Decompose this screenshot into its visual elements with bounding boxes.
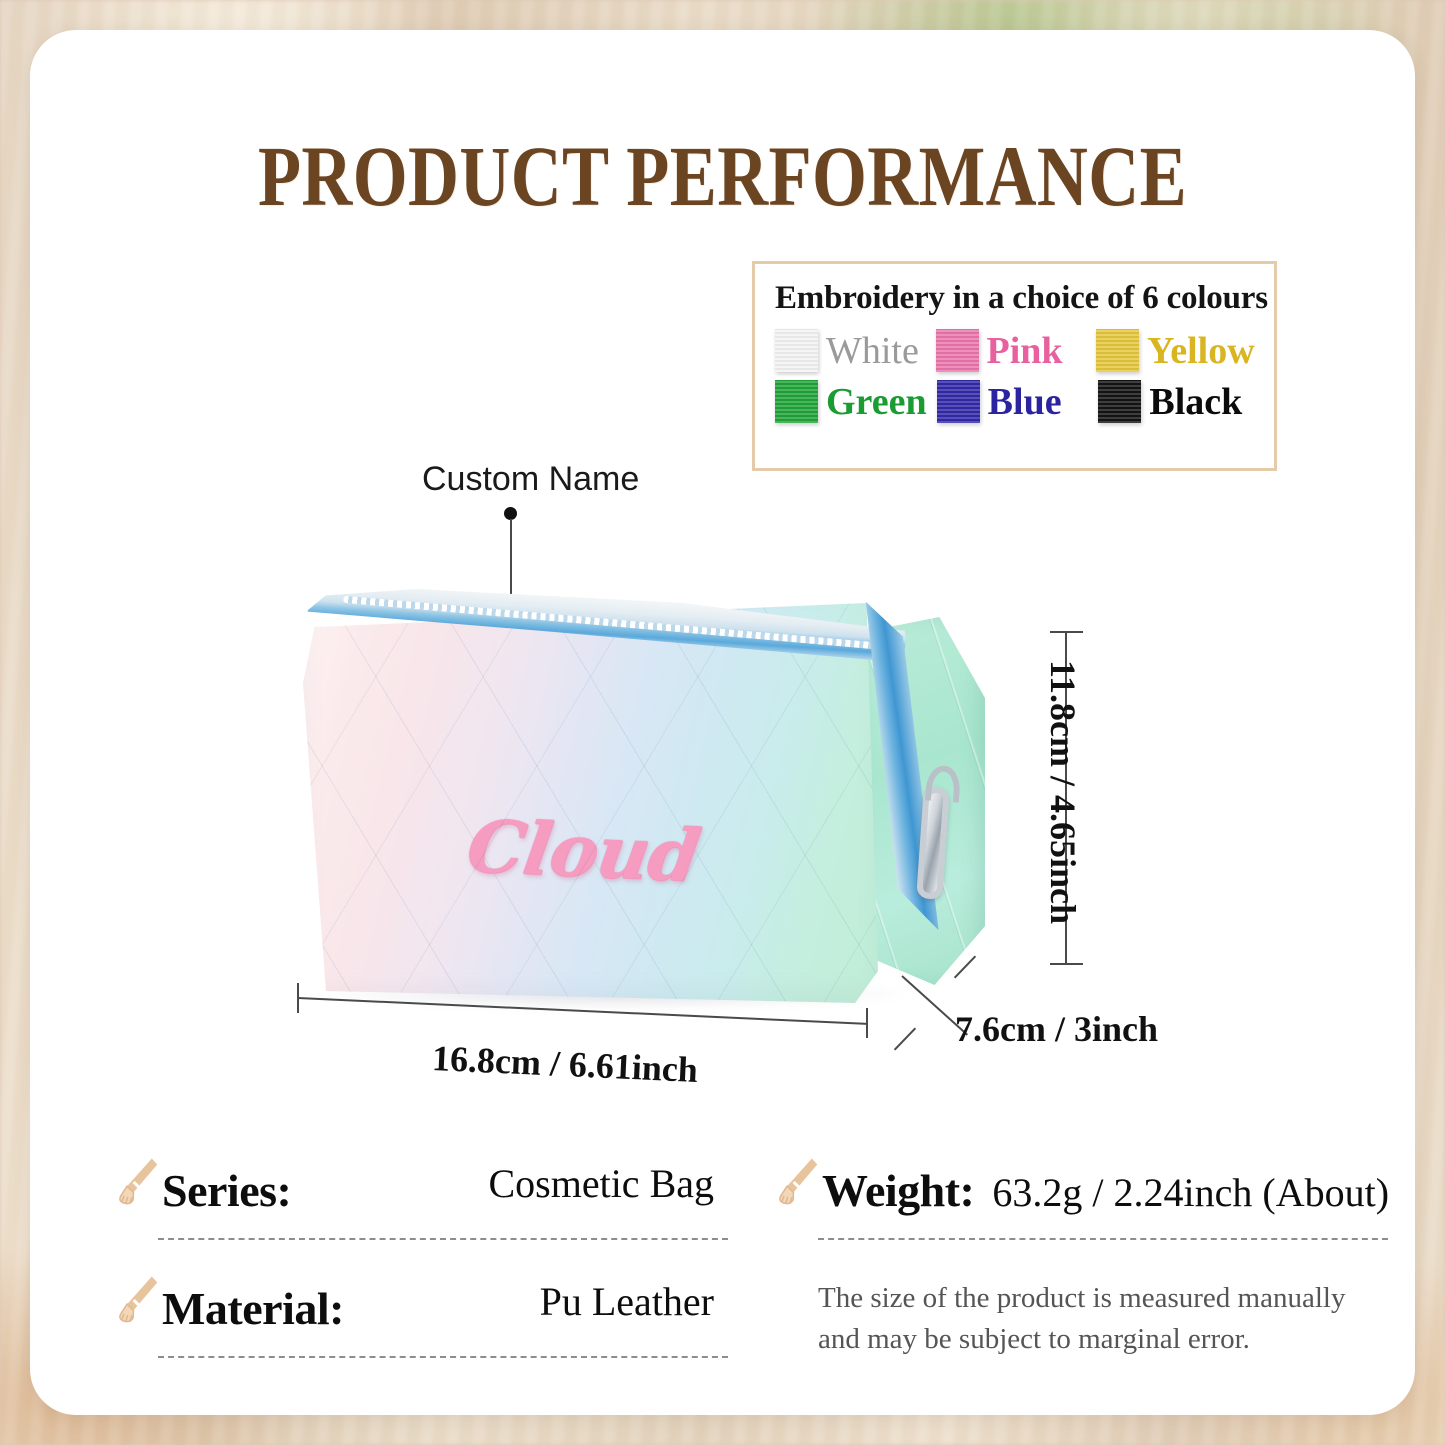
swatch-chip-yellow (1096, 329, 1139, 372)
swatch-chip-pink (936, 329, 979, 372)
height-dimension-cap-top (1050, 631, 1083, 633)
swatch-label-black: Black (1149, 383, 1242, 421)
depth-dimension-label: 7.6cm / 3inch (955, 1008, 1158, 1050)
spec-value-series: Cosmetic Bag (488, 1160, 714, 1207)
brush-icon (118, 1268, 162, 1324)
spec-row-weight: Weight: 63.2g / 2.24inch (About) (778, 1150, 1388, 1268)
width-dimension-cap-right (866, 1008, 868, 1038)
swatch-white[interactable]: White (775, 329, 930, 372)
spec-label-weight: Weight: (822, 1164, 974, 1217)
swatch-yellow[interactable]: Yellow (1096, 329, 1254, 372)
brush-icon (778, 1150, 822, 1206)
swatch-label-white: White (826, 332, 919, 370)
spec-divider-material (158, 1356, 728, 1358)
embroidery-colour-box-title: Embroidery in a choice of 6 colours (775, 280, 1254, 317)
swatch-black[interactable]: Black (1098, 380, 1254, 423)
measurement-disclaimer: The size of the product is measured manu… (818, 1278, 1378, 1360)
embroidered-custom-name: Cloud (462, 803, 705, 898)
height-dimension-label: 11.8cm / 4.65inch (1042, 660, 1084, 924)
swatch-blue[interactable]: Blue (937, 380, 1093, 423)
spec-divider-weight (818, 1238, 1388, 1240)
swatch-chip-green (775, 380, 818, 423)
swatch-chip-blue (937, 380, 980, 423)
brush-icon (118, 1150, 162, 1206)
spec-row-series: Series: Cosmetic Bag (118, 1150, 728, 1268)
specifications-section: Series: Cosmetic Bag (30, 1150, 1415, 1410)
embroidery-colour-box: Embroidery in a choice of 6 colours Whit… (752, 261, 1277, 471)
product-info-card: PRODUCT PERFORMANCE Embroidery in a choi… (30, 30, 1415, 1415)
swatch-chip-white (775, 329, 818, 372)
cosmetic-bag-image: Cloud (285, 555, 990, 1025)
spec-divider-series (158, 1238, 728, 1240)
width-dimension-label: 16.8cm / 6.61inch (431, 1037, 699, 1091)
spec-label-series: Series: (162, 1164, 291, 1217)
spec-value-weight: 63.2g / 2.24inch (About) (992, 1169, 1389, 1216)
swatch-label-green: Green (826, 383, 927, 421)
swatch-green[interactable]: Green (775, 380, 931, 423)
swatch-row-2: Green Blue Black (775, 380, 1254, 423)
spec-label-material: Material: (162, 1282, 344, 1335)
spec-value-material: Pu Leather (540, 1278, 714, 1325)
swatch-row-1: White Pink Yellow (775, 329, 1254, 372)
swatch-label-blue: Blue (988, 383, 1062, 421)
page-title: PRODUCT PERFORMANCE (155, 126, 1291, 226)
swatch-label-yellow: Yellow (1147, 332, 1255, 370)
depth-dimension-cap-bottom (894, 1028, 916, 1051)
specs-right-column: Weight: 63.2g / 2.24inch (About) The siz… (778, 1150, 1388, 1268)
bag-front-panel: Cloud (303, 603, 878, 1003)
width-dimension-cap-left (297, 983, 299, 1013)
swatch-pink[interactable]: Pink (936, 329, 1091, 372)
custom-name-callout-label: Custom Name (422, 460, 639, 499)
spec-row-material: Material: Pu Leather (118, 1268, 728, 1386)
height-dimension-cap-bottom (1050, 963, 1083, 965)
swatch-label-pink: Pink (987, 332, 1063, 370)
specs-left-column: Series: Cosmetic Bag (118, 1150, 728, 1386)
swatch-chip-black (1098, 380, 1141, 423)
swatch-grid: White Pink Yellow Green Blue (775, 329, 1254, 423)
